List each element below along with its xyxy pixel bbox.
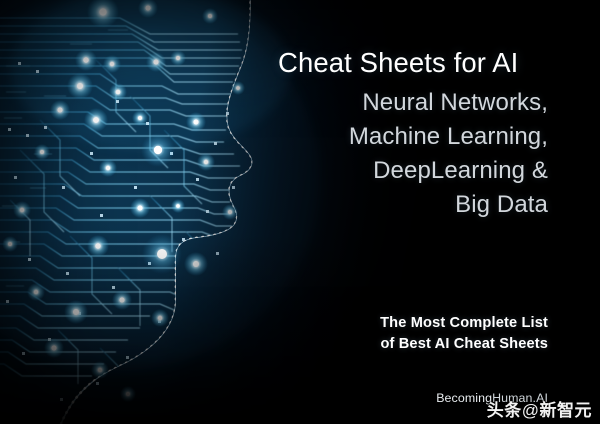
subtitle-line-4: Big Data [218, 188, 548, 222]
watermark: 头条@新智元 [487, 396, 592, 421]
tagline-line-1: The Most Complete List [248, 313, 548, 334]
poster-subtitle: Neural Networks, Machine Learning, DeepL… [218, 86, 548, 222]
subtitle-line-2: Machine Learning, [218, 120, 548, 154]
poster-tagline: The Most Complete List of Best AI Cheat … [248, 313, 548, 354]
tagline-line-2: of Best AI Cheat Sheets [248, 334, 548, 355]
subtitle-line-3: DeepLearning & [218, 154, 548, 188]
watermark-source: 头条 [487, 401, 522, 420]
poster-title: Cheat Sheets for AI [278, 48, 550, 79]
subtitle-line-1: Neural Networks, [218, 86, 548, 120]
poster-canvas: Cheat Sheets for AI Neural Networks, Mac… [0, 0, 600, 424]
text-layer: Cheat Sheets for AI Neural Networks, Mac… [0, 0, 600, 424]
brand-primary: Becoming [436, 391, 492, 405]
watermark-at-symbol: @ [522, 401, 540, 420]
watermark-account: 新智元 [540, 401, 593, 420]
